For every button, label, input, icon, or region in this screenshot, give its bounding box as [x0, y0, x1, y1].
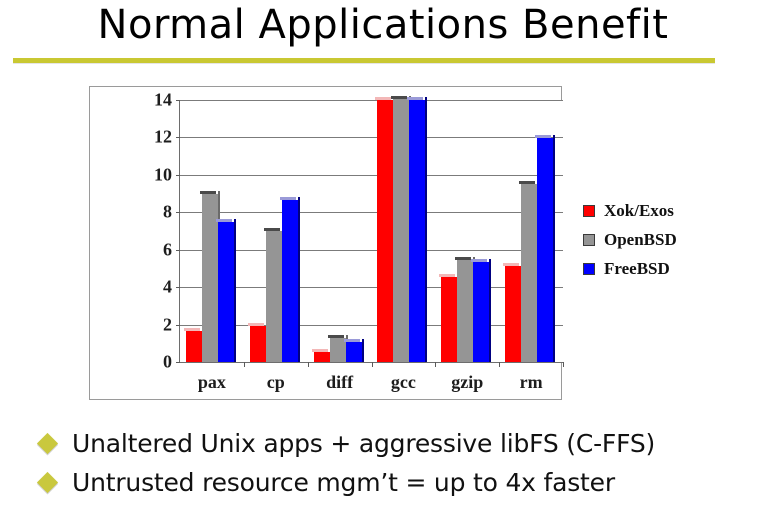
chart-gridline: [180, 137, 563, 138]
x-axis-label: gzip: [451, 372, 483, 393]
x-axis-label: diff: [326, 372, 353, 393]
chart-bar: [393, 99, 409, 362]
legend-color-swatch: [583, 234, 595, 246]
chart-plot-area: 02468101214paxcpdiffgccgziprm: [179, 100, 563, 363]
chart-gridline: [180, 212, 563, 213]
legend-item: Xok/Exos: [583, 196, 763, 225]
chart-bar: [186, 331, 202, 362]
y-axis-tick: [176, 362, 180, 363]
bullet-list: Unaltered Unix apps + aggressive libFS (…: [36, 424, 766, 502]
x-axis-label: gcc: [391, 372, 416, 393]
y-axis-tick: [176, 250, 180, 251]
x-axis-tick: [308, 362, 309, 367]
chart-bar-top-face: [455, 257, 471, 260]
y-axis-tick: [176, 325, 180, 326]
chart-bar-side-face: [298, 197, 300, 362]
chart-bar-top-face: [503, 263, 519, 266]
chart-container: 02468101214paxcpdiffgccgziprm: [89, 86, 562, 400]
chart-bar-top-face: [519, 181, 535, 184]
chart-bar-top-face: [471, 259, 487, 262]
legend-item-label: FreeBSD: [604, 259, 670, 279]
x-axis-tick: [563, 362, 564, 367]
legend-item-label: OpenBSD: [604, 230, 677, 250]
chart-bar-top-face: [439, 274, 455, 277]
x-axis-tick: [244, 362, 245, 367]
legend-item: OpenBSD: [583, 225, 763, 254]
chart-bar-top-face: [407, 97, 423, 100]
chart-bar: [250, 326, 266, 362]
chart-bar: [314, 352, 330, 362]
y-axis-tick: [176, 212, 180, 213]
x-axis-tick: [499, 362, 500, 367]
chart-bar-top-face: [216, 219, 232, 222]
legend-color-swatch: [583, 263, 595, 275]
page-title: Normal Applications Benefit: [0, 2, 766, 48]
chart-bar-top-face: [264, 228, 280, 231]
y-axis-label: 6: [163, 239, 172, 260]
bullet-item-text: Untrusted resource mgm’t = up to 4x fast…: [72, 468, 615, 497]
chart-gridline: [180, 250, 563, 251]
y-axis-label: 0: [163, 352, 172, 373]
y-axis-tick: [176, 287, 180, 288]
title-underline-rule: [13, 58, 715, 63]
chart-bar: [377, 100, 393, 362]
x-axis-tick: [372, 362, 373, 367]
y-axis-tick: [176, 137, 180, 138]
chart-bar-top-face: [375, 97, 391, 100]
chart-bar: [218, 222, 234, 362]
y-axis-label: 8: [163, 202, 172, 223]
chart-bar-top-face: [312, 349, 328, 352]
chart-bar: [266, 231, 282, 362]
chart-bar: [346, 342, 362, 362]
bullet-item-text: Unaltered Unix apps + aggressive libFS (…: [72, 429, 655, 458]
chart-gridline: [180, 100, 563, 101]
x-axis-tick: [435, 362, 436, 367]
chart-bar-top-face: [248, 323, 264, 326]
chart-bar-side-face: [234, 219, 236, 362]
y-axis-tick: [176, 175, 180, 176]
bullet-item: Unaltered Unix apps + aggressive libFS (…: [36, 424, 766, 463]
legend-item: FreeBSD: [583, 254, 763, 283]
chart-bar: [441, 277, 457, 362]
y-axis-tick: [176, 100, 180, 101]
chart-bar-side-face: [362, 339, 364, 362]
legend-color-swatch: [583, 205, 595, 217]
x-axis-label: rm: [520, 372, 543, 393]
chart-bar: [537, 138, 553, 362]
diamond-bullet-icon: [37, 433, 58, 454]
chart-bar-side-face: [553, 135, 555, 362]
legend-item-label: Xok/Exos: [604, 201, 674, 221]
x-axis-label: cp: [267, 372, 285, 393]
chart-bar-top-face: [328, 335, 344, 338]
chart-bar: [409, 100, 425, 362]
bullet-item: Untrusted resource mgm’t = up to 4x fast…: [36, 463, 766, 502]
y-axis-label: 12: [154, 127, 172, 148]
chart-bar: [521, 184, 537, 362]
chart-bar-top-face: [280, 197, 296, 200]
y-axis-label: 4: [163, 277, 172, 298]
chart-bar-top-face: [184, 328, 200, 331]
chart-bar: [282, 200, 298, 362]
y-axis-label: 14: [154, 90, 172, 111]
chart-bar-top-face: [200, 191, 216, 194]
y-axis-label: 10: [154, 164, 172, 185]
diamond-bullet-icon: [37, 472, 58, 493]
chart-bar-top-face: [344, 339, 360, 342]
chart-bar-side-face: [489, 259, 491, 362]
chart-bar: [457, 260, 473, 362]
chart-bar: [505, 266, 521, 362]
chart-bar: [473, 262, 489, 362]
chart-gridline: [180, 175, 563, 176]
chart-bar-top-face: [391, 96, 407, 99]
chart-bar-top-face: [535, 135, 551, 138]
y-axis-label: 2: [163, 314, 172, 335]
chart-bar-side-face: [425, 97, 427, 362]
x-axis-label: pax: [198, 372, 226, 393]
chart-legend: Xok/ExosOpenBSDFreeBSD: [583, 196, 763, 283]
